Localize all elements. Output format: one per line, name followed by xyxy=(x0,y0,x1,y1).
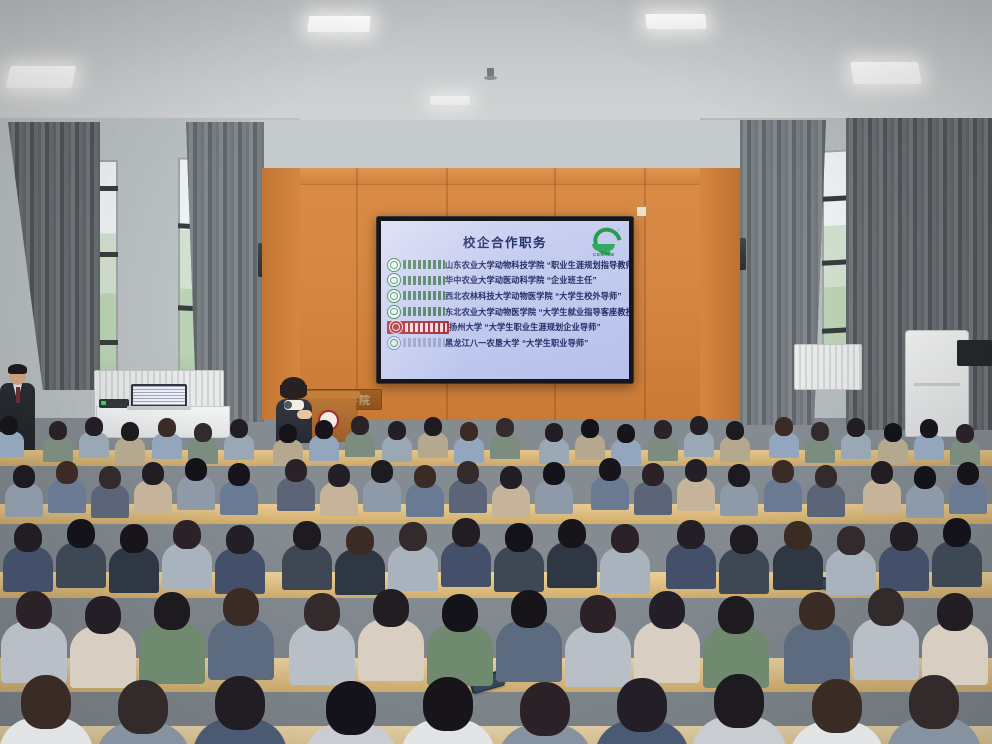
person-head xyxy=(460,422,478,441)
side-monitor xyxy=(957,340,992,366)
audience-member xyxy=(719,525,769,600)
person-body xyxy=(932,541,982,587)
person-head xyxy=(457,461,479,484)
audience-member xyxy=(91,466,129,523)
person-head xyxy=(226,525,254,554)
person-head xyxy=(452,518,480,547)
person-head xyxy=(649,591,685,629)
person-head xyxy=(424,417,442,436)
person-body xyxy=(335,549,385,595)
person-body xyxy=(720,482,758,516)
slide-row: 山东农业大学动物科技学院 “职业生涯规划指导教师” xyxy=(387,257,625,273)
audience-member xyxy=(320,464,358,521)
person-head xyxy=(14,523,42,552)
university-logo-icon xyxy=(387,258,445,271)
audience-member xyxy=(162,520,212,595)
person-body xyxy=(600,547,650,593)
person-head xyxy=(558,519,586,548)
person-head xyxy=(581,419,599,438)
audience-member xyxy=(666,520,716,595)
person-body xyxy=(863,479,901,513)
slide-row-text: 山东农业大学动物科技学院 “职业生涯规划指导教师” xyxy=(445,258,629,271)
audience-member xyxy=(790,679,884,744)
university-logo-icon xyxy=(387,321,449,334)
person-head xyxy=(871,461,893,484)
presentation-slide: 校企合作职务 ✦ CENTRE 山东农业大学动物科技学院 “职业生涯规划指导教师… xyxy=(381,221,629,379)
slide-row-text: 东北农业大学动物医学院 “大学生就业指导客座教授” xyxy=(445,305,629,318)
audience-member xyxy=(853,588,919,688)
university-logo-icon xyxy=(387,305,445,318)
audience-member xyxy=(441,518,491,593)
audience-member xyxy=(807,465,845,522)
person-head xyxy=(228,463,250,486)
person-body xyxy=(547,542,597,588)
person-head xyxy=(812,679,862,733)
person-head xyxy=(868,588,904,626)
audience-member xyxy=(115,422,145,467)
person-body xyxy=(277,477,315,511)
person-head xyxy=(726,421,744,440)
person-head xyxy=(279,424,297,443)
audience-member xyxy=(949,462,987,519)
person-head xyxy=(16,591,52,629)
person-body xyxy=(56,542,106,588)
person-head xyxy=(685,459,707,482)
person-body xyxy=(282,544,332,590)
person-body xyxy=(358,619,424,681)
person-head xyxy=(815,465,837,488)
slide-row-text: 扬州大学 “大学生职业生涯规划企业导师” xyxy=(449,321,601,334)
audience-member xyxy=(841,418,871,463)
person-head xyxy=(423,677,473,731)
person-body xyxy=(162,543,212,589)
person-head xyxy=(690,416,708,435)
stage-wall-rail xyxy=(300,168,700,185)
person-head xyxy=(388,421,406,440)
person-head xyxy=(371,460,393,483)
audience-member xyxy=(208,588,274,688)
person-head xyxy=(215,676,265,730)
audience-member xyxy=(634,591,700,691)
person-body xyxy=(5,483,43,517)
person-body xyxy=(363,478,401,512)
person-head xyxy=(304,593,340,631)
audience-member xyxy=(277,459,315,516)
person-body xyxy=(807,483,845,517)
person-body xyxy=(177,476,215,510)
audience-member xyxy=(289,593,355,693)
audience-member xyxy=(720,421,750,466)
person-head xyxy=(599,458,621,481)
person-body xyxy=(634,481,672,515)
led-display: 校企合作职务 ✦ CENTRE 山东农业大学动物科技学院 “职业生涯规划指导教师… xyxy=(376,216,634,384)
audience-member xyxy=(677,459,715,516)
person-head xyxy=(154,592,190,630)
person-body xyxy=(591,476,629,510)
audience-member xyxy=(224,419,254,464)
audience-member xyxy=(914,419,944,464)
person-head xyxy=(956,424,974,443)
person-body xyxy=(764,478,802,512)
person-head xyxy=(373,589,409,627)
audience-member xyxy=(358,589,424,689)
audience-member xyxy=(79,417,109,462)
slide-row-text: 西北农林科技大学动物医学院 “大学生校外导师” xyxy=(445,290,622,303)
audience-member xyxy=(720,464,758,521)
audience-member xyxy=(345,416,375,461)
slide-row-list: 山东农业大学动物科技学院 “职业生涯规划指导教师” 华中农业大学动医动科学院 “… xyxy=(387,257,625,351)
person-head xyxy=(617,678,667,732)
person-head xyxy=(230,419,248,438)
person-body xyxy=(406,483,444,517)
person-body xyxy=(320,482,358,516)
audience-member xyxy=(56,519,106,594)
university-logo-icon xyxy=(387,336,445,349)
person-body xyxy=(48,479,86,513)
person-body xyxy=(677,477,715,511)
wall-plate xyxy=(636,206,647,217)
person-head xyxy=(442,594,478,632)
person-head xyxy=(223,588,259,626)
audience-member xyxy=(535,462,573,519)
ceiling-light-1 xyxy=(6,66,77,88)
person-head xyxy=(21,675,71,729)
person-head xyxy=(784,521,812,550)
person-body xyxy=(3,546,53,592)
person-body xyxy=(1,621,67,683)
audience-member xyxy=(48,461,86,518)
person-head xyxy=(13,465,35,488)
person-body xyxy=(666,543,716,589)
person-head xyxy=(728,464,750,487)
lecture-hall-photo: 校企合作职务 ✦ CENTRE 山东农业大学动物科技学院 “职业生涯规划指导教师… xyxy=(0,0,992,744)
audience-member xyxy=(684,416,714,461)
person-head xyxy=(617,424,635,443)
person-head xyxy=(772,460,794,483)
person-head xyxy=(173,520,201,549)
person-body xyxy=(441,541,491,587)
audience-member xyxy=(494,523,544,598)
audience-member xyxy=(134,462,172,519)
audience-member xyxy=(220,463,258,520)
person-head xyxy=(328,464,350,487)
person-body xyxy=(853,618,919,680)
person-head xyxy=(884,423,902,442)
person-body xyxy=(494,546,544,592)
person-head xyxy=(811,422,829,441)
person-body xyxy=(388,545,438,591)
person-body xyxy=(496,620,562,682)
person-body xyxy=(139,622,205,684)
audience-member xyxy=(764,460,802,517)
audience-member xyxy=(932,518,982,593)
person-head xyxy=(49,421,67,440)
audience-member xyxy=(492,466,530,523)
person-body xyxy=(215,548,265,594)
person-head xyxy=(543,462,565,485)
person-head xyxy=(799,592,835,630)
slide-row: 西北农林科技大学动物医学院 “大学生校外导师” xyxy=(387,288,625,304)
audience-member xyxy=(3,523,53,598)
audience-member xyxy=(591,458,629,515)
person-head xyxy=(730,525,758,554)
person-body xyxy=(535,480,573,514)
audience-member xyxy=(595,678,689,744)
audience-member xyxy=(406,465,444,522)
person-body xyxy=(91,484,129,518)
person-head xyxy=(414,465,436,488)
person-head xyxy=(890,522,918,551)
audience-member xyxy=(0,675,93,744)
person-head xyxy=(185,458,207,481)
person-head xyxy=(914,466,936,489)
person-head xyxy=(399,522,427,551)
audience-member xyxy=(600,524,650,599)
ceiling-light-3 xyxy=(645,14,706,29)
person-head xyxy=(326,681,376,735)
person-head xyxy=(611,524,639,553)
audience-member xyxy=(805,422,835,467)
person-head xyxy=(67,519,95,548)
person-head xyxy=(937,593,973,631)
audience-member xyxy=(363,460,401,517)
person-head xyxy=(511,590,547,628)
audience-member xyxy=(498,682,592,744)
person-head xyxy=(847,418,865,437)
slide-row-text: 黑龙江八一农垦大学 “大学生职业导师” xyxy=(445,336,588,349)
person-body xyxy=(220,481,258,515)
person-body xyxy=(208,618,274,680)
person-head xyxy=(85,417,103,436)
person-head xyxy=(346,526,374,555)
audience-member xyxy=(490,418,520,463)
audience-member xyxy=(418,417,448,462)
audience-seating xyxy=(0,396,992,744)
audience-member xyxy=(193,676,287,744)
person-head xyxy=(909,675,959,729)
university-logo-icon xyxy=(387,289,445,302)
person-head xyxy=(194,423,212,442)
audience-member xyxy=(5,465,43,522)
person-head xyxy=(315,420,333,439)
slide-row: 华中农业大学动医动科学院 “企业班主任” xyxy=(387,273,625,289)
person-body xyxy=(719,548,769,594)
person-head xyxy=(718,596,754,634)
person-head xyxy=(505,523,533,552)
person-head xyxy=(520,682,570,736)
person-head xyxy=(85,596,121,634)
sprinkler-head xyxy=(487,68,494,79)
audience-member xyxy=(282,521,332,596)
person-head xyxy=(775,417,793,436)
person-body xyxy=(634,621,700,683)
audience-member xyxy=(304,681,398,744)
audience-member xyxy=(634,463,672,520)
audience-member xyxy=(769,417,799,462)
person-body xyxy=(879,545,929,591)
person-body xyxy=(449,479,487,513)
radiator-right xyxy=(794,344,862,390)
ceiling-light-4 xyxy=(850,62,922,84)
centre-logo-icon: ✦ CENTRE xyxy=(587,227,621,259)
person-body xyxy=(906,484,944,518)
person-head xyxy=(642,463,664,486)
audience-member xyxy=(388,522,438,597)
person-head xyxy=(580,595,616,633)
person-head xyxy=(496,418,514,437)
audience-member xyxy=(0,416,24,461)
audience-member xyxy=(96,680,190,744)
audience-member xyxy=(863,461,901,518)
stage-wall-right-panel xyxy=(698,168,740,420)
audience-member xyxy=(43,421,73,466)
person-head xyxy=(943,518,971,547)
person-body xyxy=(109,547,159,593)
audience-member xyxy=(648,420,678,465)
person-body xyxy=(492,484,530,518)
person-head xyxy=(677,520,705,549)
person-head xyxy=(118,680,168,734)
audience-member xyxy=(784,592,850,692)
person-head xyxy=(500,466,522,489)
ceiling-light-2 xyxy=(307,16,371,32)
person-head xyxy=(158,418,176,437)
person-head xyxy=(920,419,938,438)
person-head xyxy=(351,416,369,435)
ceiling-light-5 xyxy=(430,96,470,105)
audience-member xyxy=(109,524,159,599)
slide-row: 黑龙江八一农垦大学 “大学生职业导师” xyxy=(387,335,625,351)
person-head xyxy=(714,674,764,728)
person-body xyxy=(784,622,850,684)
person-head xyxy=(654,420,672,439)
person-head xyxy=(120,524,148,553)
person-body xyxy=(289,623,355,685)
person-head xyxy=(99,466,121,489)
audience-member xyxy=(887,675,981,744)
audience-member xyxy=(152,418,182,463)
audience-member xyxy=(773,521,823,596)
slide-row-text: 华中农业大学动医动科学院 “企业班主任” xyxy=(445,274,597,287)
audience-member xyxy=(496,590,562,690)
audience-member xyxy=(401,677,495,744)
person-head xyxy=(545,423,563,442)
audience-member xyxy=(879,522,929,597)
audience-member xyxy=(692,674,786,744)
person-body xyxy=(949,480,987,514)
audience-member xyxy=(449,461,487,518)
slide-row: 扬州大学 “大学生职业生涯规划企业导师” xyxy=(387,319,625,335)
person-head xyxy=(142,462,164,485)
person-head xyxy=(56,461,78,484)
person-head xyxy=(285,459,307,482)
audience-member xyxy=(177,458,215,515)
person-head xyxy=(293,521,321,550)
audience-member xyxy=(547,519,597,594)
slide-row: 东北农业大学动物医学院 “大学生就业指导客座教授” xyxy=(387,304,625,320)
person-body xyxy=(134,480,172,514)
person-head xyxy=(0,416,18,435)
person-head xyxy=(121,422,139,441)
person-head xyxy=(957,462,979,485)
audience-member xyxy=(906,466,944,523)
university-logo-icon xyxy=(387,274,445,287)
person-head xyxy=(837,526,865,555)
person-body xyxy=(773,544,823,590)
